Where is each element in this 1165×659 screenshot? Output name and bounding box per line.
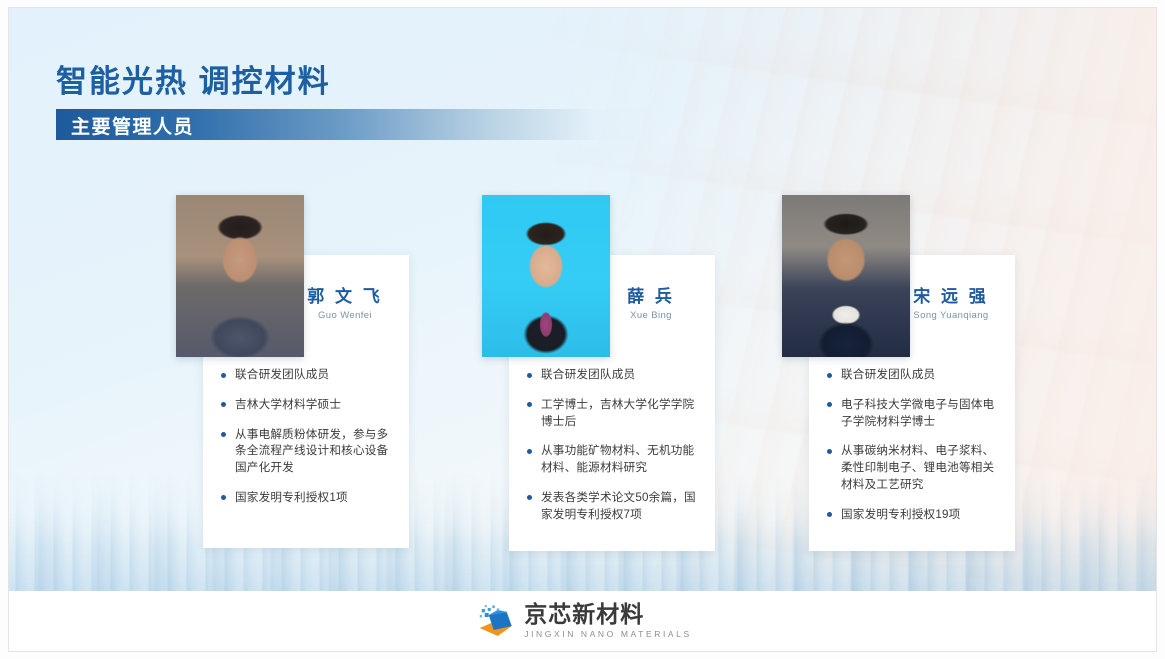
list-item: 从事电解质粉体研发，参与多条全流程产线设计和核心设备国产化开发 <box>220 427 396 477</box>
list-item: 电子科技大学微电子与固体电子学院材料学博士 <box>826 397 1002 431</box>
logo-name-cn: 京芯新材料 <box>524 603 692 626</box>
person-name-block: 薛 兵 Xue Bing <box>595 288 707 321</box>
person-bio-list: 联合研发团队成员 电子科技大学微电子与固体电子学院材料学博士 从事碳纳米材料、电… <box>826 367 1002 537</box>
person-pinyin: Guo Wenfei <box>289 310 401 321</box>
presentation-slide: 智能光热 调控材料 主要管理人员 郭 文 飞 Guo Wenfei 联合研发团队… <box>9 8 1156 651</box>
person-name-block: 宋 远 强 Song Yuanqiang <box>895 288 1007 321</box>
slide-footer: 京芯新材料 JINGXIN NANO MATERIALS <box>9 591 1156 651</box>
company-logo: 京芯新材料 JINGXIN NANO MATERIALS <box>473 602 692 640</box>
person-bio-list: 联合研发团队成员 工学博士，吉林大学化学学院博士后 从事功能矿物材料、无机功能材… <box>526 367 702 537</box>
list-item: 国家发明专利授权19项 <box>826 507 1002 524</box>
list-item: 联合研发团队成员 <box>526 367 702 384</box>
person-photo <box>782 195 910 357</box>
list-item: 从事碳纳米材料、电子浆料、柔性印制电子、锂电池等相关材料及工艺研究 <box>826 443 1002 493</box>
person-bio-list: 联合研发团队成员 吉林大学材料学硕士 从事电解质粉体研发，参与多条全流程产线设计… <box>220 367 396 520</box>
list-item: 联合研发团队成员 <box>220 367 396 384</box>
person-name: 郭 文 飞 <box>289 288 401 307</box>
logo-name-en: JINGXIN NANO MATERIALS <box>524 629 692 639</box>
person-pinyin: Xue Bing <box>595 310 707 321</box>
subtitle-label: 主要管理人员 <box>71 112 194 139</box>
list-item: 国家发明专利授权1项 <box>220 490 396 507</box>
person-name: 薛 兵 <box>595 288 707 307</box>
logo-text-block: 京芯新材料 JINGXIN NANO MATERIALS <box>524 603 692 639</box>
jingxin-logo-icon <box>473 602 515 640</box>
person-pinyin: Song Yuanqiang <box>895 310 1007 321</box>
person-photo <box>482 195 610 357</box>
slide-viewer: 智能光热 调控材料 主要管理人员 郭 文 飞 Guo Wenfei 联合研发团队… <box>0 0 1165 659</box>
list-item: 发表各类学术论文50余篇，国家发明专利授权7项 <box>526 490 702 524</box>
person-photo <box>176 195 304 357</box>
list-item: 从事功能矿物材料、无机功能材料、能源材料研究 <box>526 443 702 477</box>
page-title: 智能光热 调控材料 <box>56 56 331 101</box>
list-item: 联合研发团队成员 <box>826 367 1002 384</box>
person-name-block: 郭 文 飞 Guo Wenfei <box>289 288 401 321</box>
slide-stage: 智能光热 调控材料 主要管理人员 郭 文 飞 Guo Wenfei 联合研发团队… <box>9 8 1156 591</box>
person-name: 宋 远 强 <box>895 288 1007 307</box>
list-item: 工学博士，吉林大学化学学院博士后 <box>526 397 702 431</box>
list-item: 吉林大学材料学硕士 <box>220 397 396 414</box>
